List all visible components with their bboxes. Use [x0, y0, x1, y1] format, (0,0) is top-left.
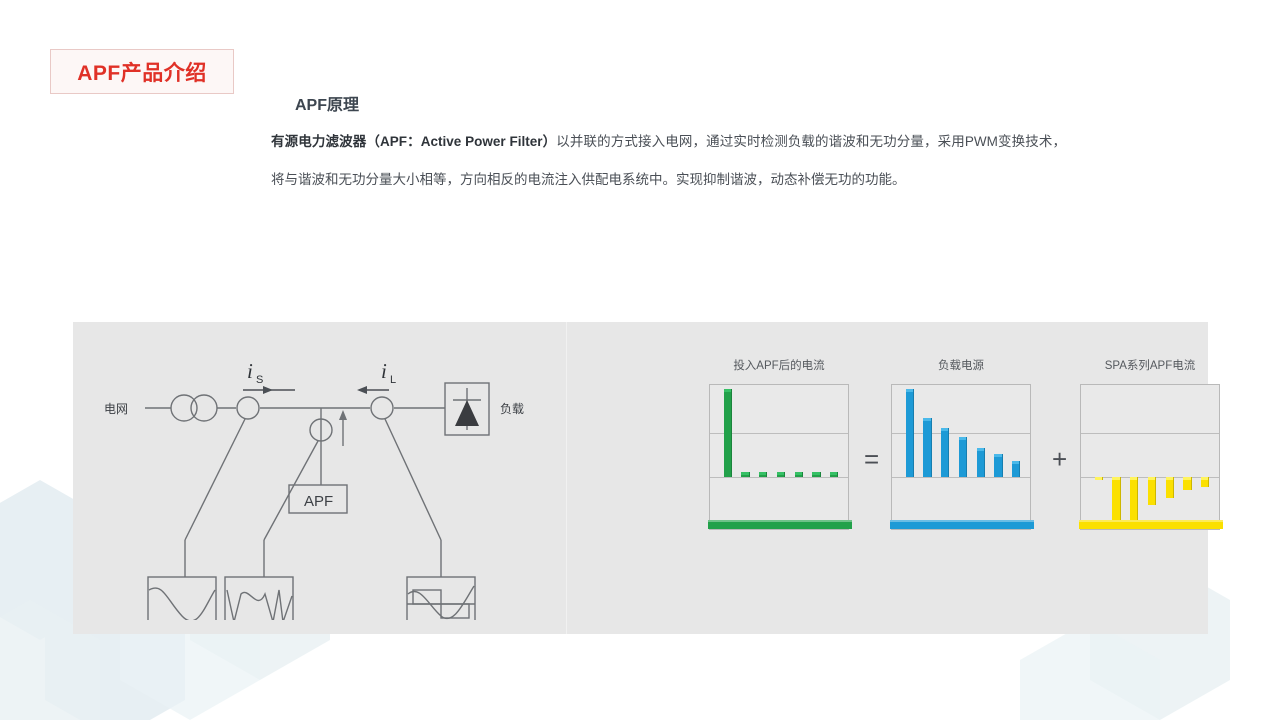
chart-baseline	[890, 520, 1034, 529]
diagram-panel: 电网 负载 APF i S i L 投入APF后的电流 = 负载电源 + SPA…	[73, 322, 1208, 634]
chart-bar	[830, 472, 838, 476]
current-label-il: i	[381, 359, 387, 383]
chart-bar-highlight	[1112, 477, 1119, 480]
circuit-label-load: 负载	[500, 402, 524, 416]
chart-green: 投入APF后的电流	[709, 384, 849, 530]
chart-bar	[959, 437, 967, 476]
chart-bar-highlight	[1095, 477, 1102, 480]
chart-bar	[741, 472, 749, 476]
chart-yellow-title: SPA系列APF电流	[1080, 357, 1220, 373]
card-body-lead: 有源电力滤波器（APF：Active Power Filter）	[271, 134, 556, 149]
chart-blue-title: 负载电源	[891, 357, 1031, 373]
chart-bar-highlight	[1148, 477, 1155, 480]
chart-yellow-bars	[1081, 385, 1219, 529]
chart-gridline	[892, 477, 1030, 478]
chart-bar-highlight	[1012, 461, 1019, 464]
chart-bar	[941, 428, 949, 477]
chart-bar-highlight	[994, 454, 1001, 457]
chart-gridline	[710, 477, 848, 478]
chart-baseline	[708, 520, 852, 529]
chart-blue: 负载电源	[891, 384, 1031, 530]
chart-green-bars	[710, 385, 848, 529]
chart-bar-highlight	[777, 472, 784, 475]
chart-bar-highlight	[1166, 477, 1173, 480]
chart-bar-highlight	[941, 428, 948, 431]
chart-bar	[1148, 477, 1156, 505]
chart-bar	[906, 389, 914, 476]
chart-green-title: 投入APF后的电流	[709, 357, 849, 373]
chart-bar-highlight	[759, 472, 766, 475]
current-label-il-sub: L	[390, 374, 396, 386]
chart-bar	[759, 472, 767, 476]
chart-bar-highlight	[1183, 477, 1190, 480]
chart-bar	[923, 418, 931, 476]
chart-bar-highlight	[959, 437, 966, 440]
chart-bar	[1201, 477, 1209, 487]
chart-bar	[1183, 477, 1191, 490]
chart-bar	[1112, 477, 1120, 525]
slide-title-box: APF产品介绍	[50, 49, 234, 94]
chart-bar	[1095, 477, 1103, 480]
chart-bar-highlight	[923, 418, 930, 421]
chart-bar	[1130, 477, 1138, 521]
chart-bar	[1166, 477, 1174, 498]
chart-yellow: SPA系列APF电流	[1080, 384, 1220, 530]
chart-bar-highlight	[906, 389, 913, 392]
panel-divider	[566, 322, 567, 634]
chart-bar	[795, 472, 803, 476]
current-label-is-sub: S	[256, 374, 263, 386]
chart-bar-highlight	[830, 472, 837, 475]
operator-equals: =	[864, 444, 879, 475]
chart-bar	[812, 472, 820, 476]
chart-bar-highlight	[1201, 477, 1208, 480]
charts-group: 投入APF后的电流 = 负载电源 + SPA系列APF电流	[593, 322, 1208, 634]
chart-bar-highlight	[741, 472, 748, 475]
circuit-label-apf: APF	[304, 493, 333, 510]
chart-bar	[724, 389, 732, 476]
chart-bar-highlight	[977, 448, 984, 451]
operator-plus: +	[1052, 444, 1067, 475]
chart-bar	[777, 472, 785, 476]
chart-bar	[977, 448, 985, 477]
chart-bar-highlight	[1130, 477, 1137, 480]
chart-baseline	[1079, 520, 1223, 529]
apf-circuit-diagram: 电网 负载 APF i S i L	[93, 350, 563, 620]
apf-principle-card: APF原理 有源电力滤波器（APF：Active Power Filter）以并…	[257, 72, 1080, 240]
chart-bar	[1012, 461, 1020, 477]
chart-blue-bars	[892, 385, 1030, 529]
circuit-label-grid: 电网	[104, 402, 128, 416]
chart-yellow-frame	[1080, 384, 1220, 530]
card-heading: APF原理	[295, 91, 359, 115]
chart-green-frame	[709, 384, 849, 530]
chart-bar	[994, 454, 1002, 477]
current-label-is: i	[247, 359, 253, 383]
page-title: APF产品介绍	[77, 57, 207, 87]
card-body: 有源电力滤波器（APF：Active Power Filter）以并联的方式接入…	[271, 123, 1066, 199]
chart-blue-frame	[891, 384, 1031, 530]
chart-gridline	[1081, 433, 1219, 434]
chart-bar-highlight	[795, 472, 802, 475]
chart-bar-highlight	[724, 389, 731, 392]
chart-bar-highlight	[812, 472, 819, 475]
